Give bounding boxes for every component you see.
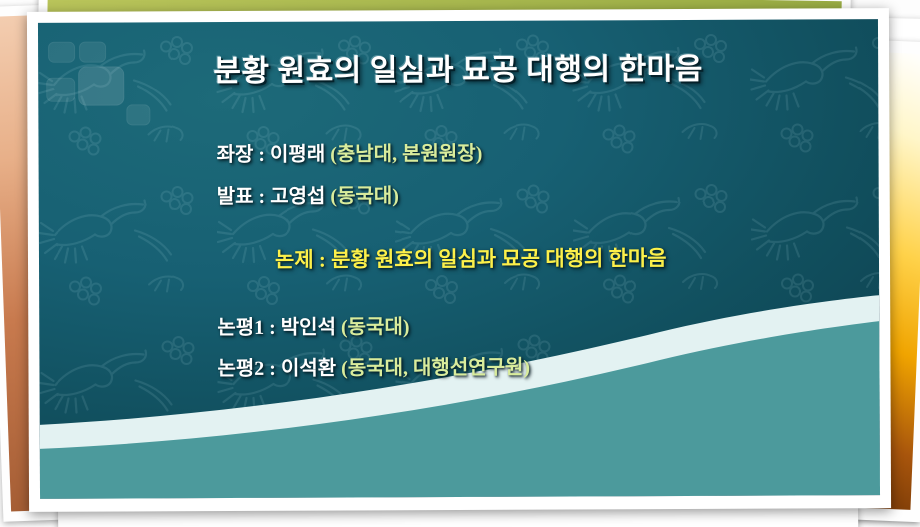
slide-content: 분황 원효의 일심과 묘공 대행의 한마음 좌장 : 이평래 (충남대, 본원원… [38,19,880,499]
chair-line: 좌장 : 이평래 (충남대, 본원원장) [216,137,482,167]
presenter-affiliation: (동국대) [330,185,399,207]
slide-title: 분황 원효의 일심과 묘공 대행의 한마음 [38,43,878,91]
presentation-slide: 분황 원효의 일심과 묘공 대행의 한마음 좌장 : 이평래 (충남대, 본원원… [38,19,880,499]
reviewer1-role: 논평1 : 박인석 [217,317,336,340]
reviewer2-affiliation: (동국대, 대행선연구원) [341,357,530,380]
presenter-role: 발표 : 고영섭 [217,186,326,208]
reviewer2-line: 논평2 : 이석환 (동국대, 대행선연구원) [217,351,530,381]
chair-role: 좌장 : 이평래 [216,144,325,166]
topic-line: 논제 : 분황 원효의 일심과 묘공 대행의 한마음 [275,242,667,274]
reviewer1-line: 논평1 : 박인석 (동국대) [217,310,409,340]
presenter-line: 발표 : 고영섭 (동국대) [217,179,399,209]
reviewer1-affiliation: (동국대) [341,316,410,338]
chair-affiliation: (충남대, 본원원장) [330,143,482,166]
slide-stage: 분황 원효의 일심과 묘공 대행의 한마음 좌장 : 이평래 (충남대, 본원원… [0,0,920,527]
presentation-slide-frame: 분황 원효의 일심과 묘공 대행의 한마음 좌장 : 이평래 (충남대, 본원원… [27,8,891,512]
reviewer2-role: 논평2 : 이석환 [217,358,336,381]
